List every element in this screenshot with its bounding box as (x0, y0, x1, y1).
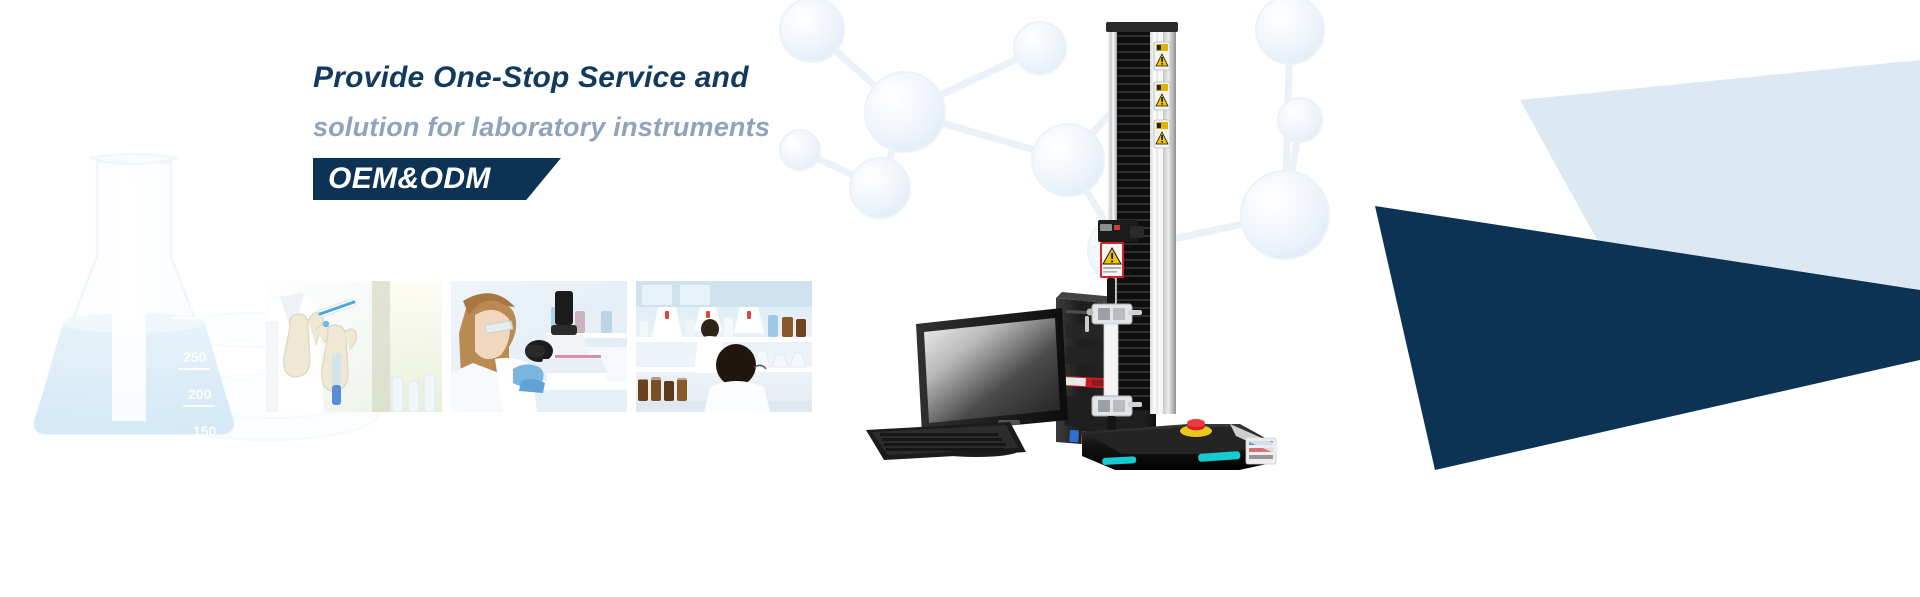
svg-text:200: 200 (188, 386, 212, 402)
svg-text:250: 250 (183, 349, 207, 365)
promo-banner: 300 250 200 150 mL Provide One-Stop Serv… (0, 0, 1920, 597)
lab-photo-strip (266, 281, 812, 412)
utm-test-specimen (1104, 324, 1118, 396)
headline-block: Provide One-Stop Service and solution fo… (313, 54, 1033, 200)
photo-card-pipetting (266, 281, 442, 412)
headline-line-1: Provide One-Stop Service and (313, 54, 1033, 102)
svg-text:300: 300 (178, 298, 202, 314)
photo-card-lab-bench (636, 281, 812, 412)
universal-testing-machine-photo (1080, 20, 1310, 470)
badge-label: OEM&ODM (328, 158, 491, 200)
svg-text:mL: mL (126, 322, 146, 337)
utm-warning-labels (1154, 42, 1170, 148)
oem-odm-badge: OEM&ODM (313, 158, 561, 200)
headline-line-2: solution for laboratory instruments (313, 102, 1033, 152)
photo-card-microscope (451, 281, 627, 412)
svg-text:150: 150 (193, 423, 217, 439)
